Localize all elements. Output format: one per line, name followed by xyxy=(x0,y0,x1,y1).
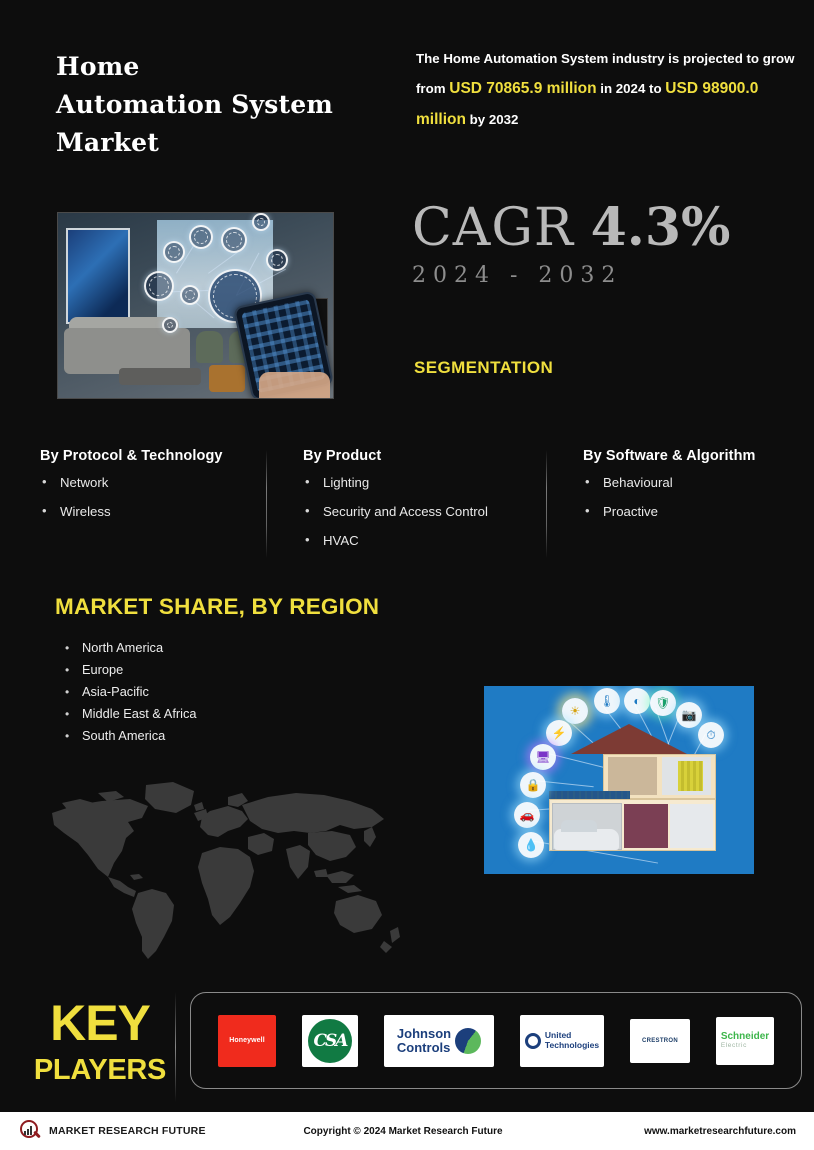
logo-csa: CSA xyxy=(302,1015,358,1067)
shield-icon: 🛡 xyxy=(650,690,676,716)
segmentation-divider-2 xyxy=(546,450,547,558)
johnson-controls-mark-icon xyxy=(455,1028,481,1054)
hand xyxy=(259,372,331,399)
segmentation-columns: By Protocol & Technology Network Wireles… xyxy=(0,448,814,568)
bar xyxy=(24,1131,26,1135)
car xyxy=(554,829,619,850)
curtain xyxy=(678,761,702,791)
footer-website[interactable]: www.marketresearchfuture.com xyxy=(526,1126,796,1137)
logo-united-technologies: United Technologies xyxy=(520,1015,604,1067)
segment-column-software-algorithm: By Software & Algorithm Behavioural Proa… xyxy=(583,448,798,534)
gear-icon xyxy=(189,225,213,249)
segment-column-protocol-technology: By Protocol & Technology Network Wireles… xyxy=(40,448,255,534)
page-title-line-1: Home xyxy=(56,48,396,86)
gear-icon xyxy=(162,317,178,333)
gear-icon xyxy=(221,227,247,253)
bar xyxy=(30,1126,32,1135)
power-bolt-icon: ⚡ xyxy=(546,720,572,746)
key-players-title: KEY PLAYERS xyxy=(30,998,170,1085)
segment-item: Security and Access Control xyxy=(303,505,533,518)
gear-icon xyxy=(144,271,174,301)
logo-schneider-label: Schneider Electric xyxy=(721,1032,769,1050)
logo-crestron: CRESTRON xyxy=(630,1019,690,1063)
cagr-year-range: 2024 - 2032 xyxy=(412,263,730,288)
region-item: Middle East & Africa xyxy=(60,703,197,725)
segment-item-list: Lighting Security and Access Control HVA… xyxy=(303,476,533,548)
page-title-line-3: Market xyxy=(56,124,396,162)
market-share-region-list: North America Europe Asia-Pacific Middle… xyxy=(60,637,197,747)
bedroom xyxy=(608,757,657,795)
region-item: Europe xyxy=(60,659,197,681)
segment-item-list: Network Wireless xyxy=(40,476,255,518)
gear-icon xyxy=(266,249,288,271)
wood-stool xyxy=(209,365,245,393)
segment-item: HVAC xyxy=(303,534,533,547)
living-room-scene xyxy=(58,213,333,398)
projection-part-2: in 2024 to xyxy=(597,81,666,96)
house-roof xyxy=(571,724,687,754)
market-projection-statement: The Home Automation System industry is p… xyxy=(416,46,798,135)
cagr-value: 4.3% xyxy=(591,197,731,258)
segment-item: Network xyxy=(40,476,255,489)
key-players-divider xyxy=(175,992,176,1102)
page-title-line-2: Automation System xyxy=(56,86,396,124)
footer-brand-label: MARKET RESEARCH FUTURE xyxy=(49,1125,206,1137)
logo-crestron-label: CRESTRON xyxy=(642,1038,678,1044)
segmentation-heading: SEGMENTATION xyxy=(414,358,553,378)
key-players-logo-box: Honeywell CSA Johnson Controls United Te… xyxy=(190,992,802,1089)
monitor-icon: 🖥 xyxy=(530,744,556,770)
segment-item: Lighting xyxy=(303,476,533,489)
cagr-block: CAGR 4.3% 2024 - 2032 xyxy=(412,202,730,288)
key-players-title-line-1: KEY xyxy=(30,998,170,1048)
hallway xyxy=(624,804,667,847)
logo-johnson-controls: Johnson Controls xyxy=(384,1015,494,1067)
sofa xyxy=(64,328,191,374)
segment-column-title: By Software & Algorithm xyxy=(583,448,798,464)
bar xyxy=(27,1129,29,1135)
cagr-line: CAGR 4.3% xyxy=(412,202,730,254)
cagr-label: CAGR xyxy=(412,198,574,258)
segment-item: Behavioural xyxy=(583,476,798,489)
segment-item: Proactive xyxy=(583,505,798,518)
region-item: South America xyxy=(60,725,197,747)
lock-icon: 🔒 xyxy=(520,772,546,798)
logo-johnson-line-1: Johnson xyxy=(397,1027,451,1041)
logo-johnson-controls-label: Johnson Controls xyxy=(397,1027,451,1054)
region-item: North America xyxy=(60,637,197,659)
logo-schneider-line-1: Schneider xyxy=(721,1032,769,1043)
clock-icon: ⏱ xyxy=(698,722,724,748)
gear-icon xyxy=(252,213,270,231)
segmentation-divider-1 xyxy=(266,450,267,558)
segment-item-list: Behavioural Proactive xyxy=(583,476,798,518)
segment-item: Wireless xyxy=(40,505,255,518)
living-room xyxy=(670,804,713,847)
projection-part-3: by 2032 xyxy=(466,112,519,127)
logo-csa-mark: CSA xyxy=(308,1019,352,1063)
segment-column-title: By Product xyxy=(303,448,533,464)
footer-copyright: Copyright © 2024 Market Research Future xyxy=(280,1126,526,1137)
logo-honeywell-label: Honeywell xyxy=(229,1037,265,1044)
world-map xyxy=(42,775,422,965)
logo-schneider-line-2: Electric xyxy=(721,1042,769,1049)
smart-home-illustration: ☀ 🌡 ◐ 🛡 📷 ⏱ ⚡ 🖥 🔒 🚗 💧 xyxy=(484,686,754,874)
market-share-heading: MARKET SHARE, BY REGION xyxy=(55,594,379,620)
logo-united-line-2: Technologies xyxy=(545,1041,599,1051)
bar-chart-icon xyxy=(24,1126,32,1135)
page-title: Home Automation System Market xyxy=(56,48,396,162)
smart-home-living-room-image xyxy=(57,212,334,399)
gear-icon xyxy=(180,285,200,305)
thermometer-icon: 🌡 xyxy=(594,688,620,714)
footer-brand: MARKET RESEARCH FUTURE xyxy=(20,1120,280,1142)
logo-schneider-electric: Schneider Electric xyxy=(716,1017,774,1065)
region-item: Asia-Pacific xyxy=(60,681,197,703)
coffee-table xyxy=(119,368,202,385)
water-drop-icon: 💧 xyxy=(518,832,544,858)
logo-united-technologies-label: United Technologies xyxy=(545,1031,599,1051)
footer: MARKET RESEARCH FUTURE Copyright © 2024 … xyxy=(0,1112,814,1150)
gear-icon xyxy=(163,241,185,263)
wall-art xyxy=(66,228,129,324)
camera-icon: 📷 xyxy=(676,702,702,728)
projection-value-2024: USD 70865.9 million xyxy=(449,80,596,97)
world-map-svg xyxy=(42,775,422,965)
map-landmasses xyxy=(52,782,400,959)
wifi-icon: ◐ xyxy=(624,688,650,714)
united-technologies-gear-icon xyxy=(525,1033,541,1049)
logo-johnson-line-2: Controls xyxy=(397,1041,451,1055)
segment-column-product: By Product Lighting Security and Access … xyxy=(303,448,533,564)
chair-left xyxy=(196,331,224,362)
key-players-title-line-2: PLAYERS xyxy=(30,1056,170,1085)
lightbulb-icon: ☀ xyxy=(562,698,588,724)
magnifier-handle xyxy=(33,1131,41,1139)
logo-honeywell: Honeywell xyxy=(218,1015,276,1067)
car-icon: 🚗 xyxy=(514,802,540,828)
market-research-future-logo-icon xyxy=(20,1120,42,1142)
segment-column-title: By Protocol & Technology xyxy=(40,448,255,464)
